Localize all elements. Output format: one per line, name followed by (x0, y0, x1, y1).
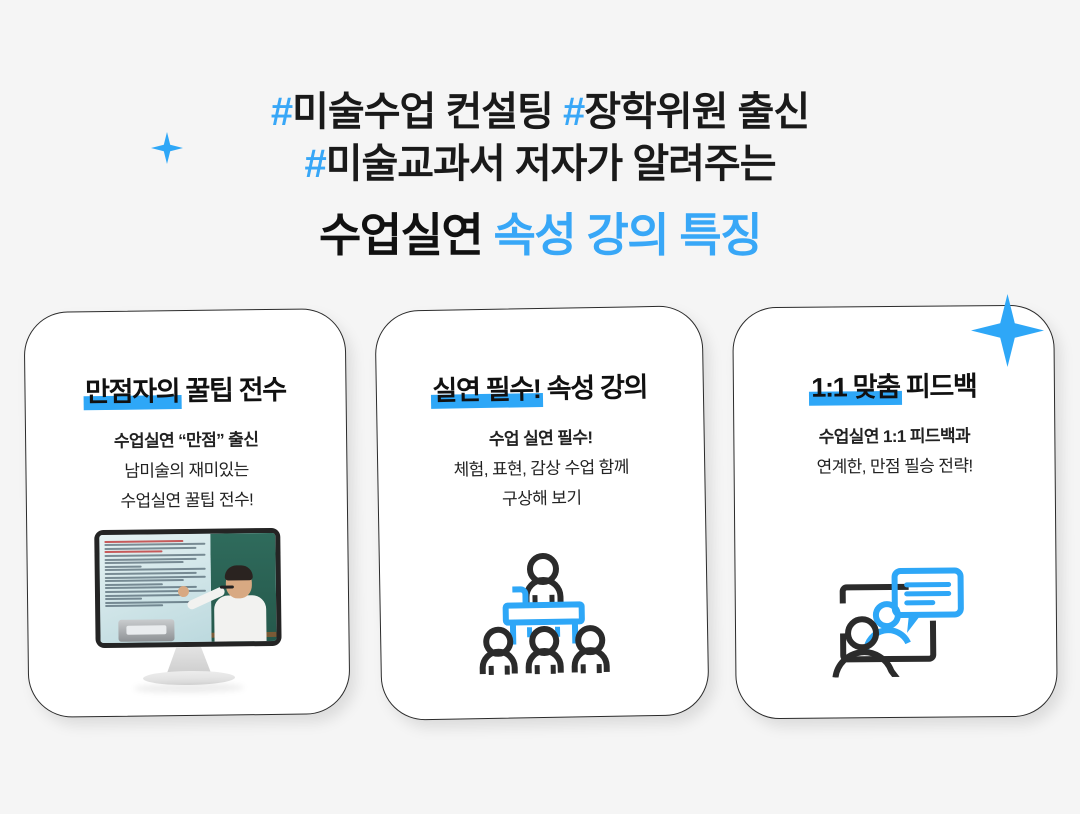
hashtag-symbol-3: # (304, 142, 325, 186)
headline-line-1: #미술수업 컨설팅 #장학위원 출신 (0, 86, 1080, 138)
card-body: 수업실연 1:1 피드백과 연계한, 만점 필승 전략! (734, 421, 1055, 484)
monitor-screen (99, 533, 276, 643)
headline-line-2-text: 미술교과서 저자가 알려주는 (326, 142, 776, 186)
feedback-chat-icon (735, 556, 1056, 679)
hashtag-symbol-1: # (271, 90, 292, 134)
card-body-line-3: 수업실연 꿀팁 전수! (27, 484, 347, 518)
podium-equipment (118, 619, 174, 642)
card-title-highlight: 만점자의 (85, 369, 180, 409)
card-title: 실연 필수! 속성 강의 (376, 364, 703, 409)
card-title-rest: 피드백 (900, 371, 977, 402)
feature-card-tips[interactable]: 만점자의 꿀팁 전수 수업실연 “만점” 출신 남미술의 재미있는 수업실연 꿀… (24, 308, 351, 718)
card-title-rest: 꿀팁 전수 (179, 375, 286, 406)
card-body-line-2: 연계한, 만점 필승 전략! (734, 451, 1054, 484)
monitor-frame (94, 528, 281, 648)
headline-subtitle: 수업실연 속성 강의 특징 (0, 206, 1080, 264)
card-body-line-3: 구상해 보기 (379, 481, 705, 517)
instructor-body (214, 595, 267, 642)
podium-audience-icon (380, 546, 708, 680)
instructor-hair (225, 565, 253, 580)
monitor-shadow (134, 682, 244, 693)
headline-line-1-text-1: 미술수업 컨설팅 (292, 90, 563, 134)
card-title-highlight: 실연 필수! (432, 367, 541, 408)
feature-card-intensive[interactable]: 실연 필수! 속성 강의 수업 실연 필수! 체험, 표현, 감상 수업 함께 … (374, 305, 709, 721)
card-body-line-1: 수업실연 “만점” 출신 (26, 424, 346, 458)
feature-card-feedback[interactable]: 1:1 맞춤 피드백 수업실연 1:1 피드백과 연계한, 만점 필승 전략! (732, 305, 1058, 720)
monitor-stand-neck (167, 647, 211, 674)
subtitle-dark-part: 수업실연 (319, 209, 494, 261)
card-body: 수업실연 “만점” 출신 남미술의 재미있는 수업실연 꿀팁 전수! (26, 424, 347, 518)
card-body: 수업 실연 필수! 체험, 표현, 감상 수업 함께 구상해 보기 (377, 421, 705, 517)
promo-banner: #미술수업 컨설팅 #장학위원 출신 #미술교과서 저자가 알려주는 수업실연 … (0, 0, 1080, 814)
hashtag-symbol-2: # (563, 90, 584, 134)
instructor-figure (200, 563, 273, 642)
monitor-lecture-illustration (27, 523, 349, 717)
card-body-line-1: 수업실연 1:1 피드백과 (734, 421, 1054, 454)
headset-mic-icon (220, 585, 234, 588)
headline-block: #미술수업 컨설팅 #장학위원 출신 #미술교과서 저자가 알려주는 수업실연 … (0, 86, 1080, 264)
instructor-hand (178, 586, 189, 597)
card-title-highlight: 1:1 맞춤 (811, 365, 900, 405)
card-title: 1:1 맞춤 피드백 (734, 364, 1054, 406)
card-title: 만점자의 꿀팁 전수 (25, 367, 345, 410)
headline-line-1-text-2: 장학위원 출신 (584, 90, 809, 134)
card-body-line-2: 남미술의 재미있는 (26, 454, 346, 488)
card-title-rest: 속성 강의 (540, 372, 647, 404)
subtitle-accent-part: 속성 강의 특징 (494, 209, 761, 261)
